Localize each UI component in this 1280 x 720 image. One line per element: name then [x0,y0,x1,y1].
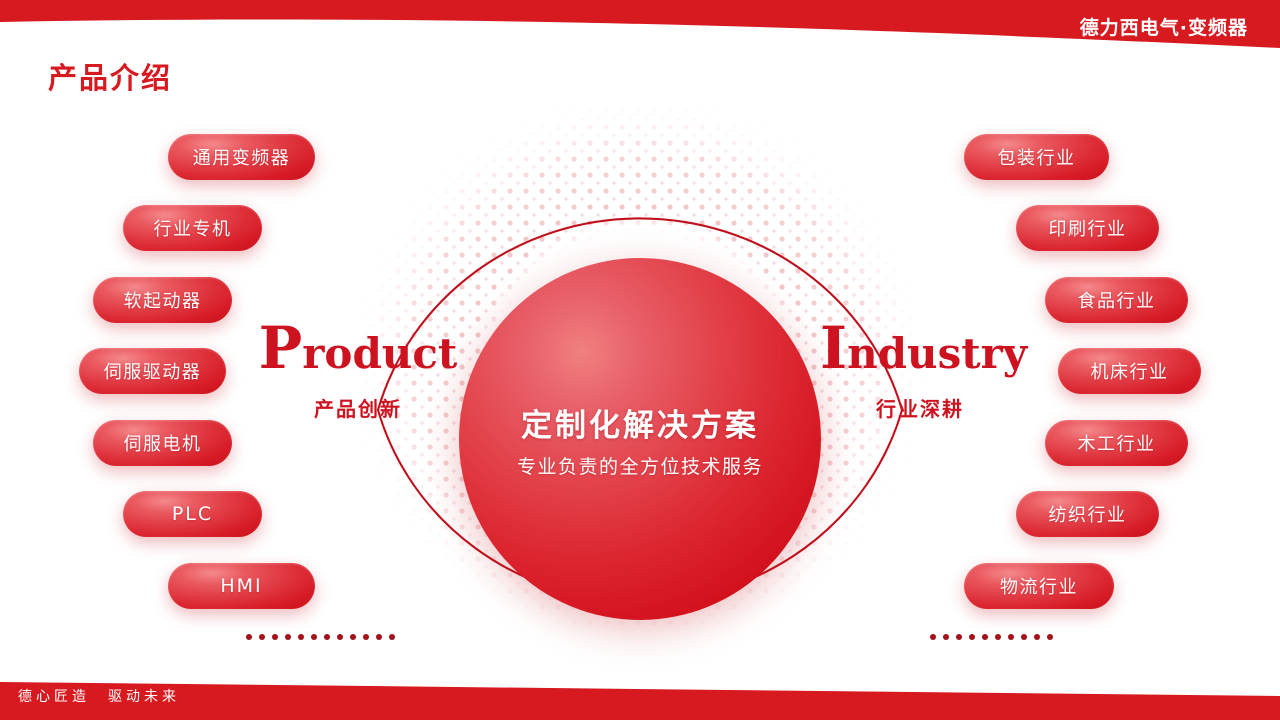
center-subtitle: 专业负责的全方位技术服务 [517,452,763,479]
divider-dot [1021,634,1027,640]
industry-pill-5[interactable]: 纺织行业 [1016,491,1159,537]
product-pill-0[interactable]: 通用变频器 [168,134,315,180]
industry-pill-label: 机床行业 [1091,358,1169,384]
product-pill-3[interactable]: 伺服驱动器 [79,348,226,394]
divider-dot [956,634,962,640]
divider-dot [324,634,330,640]
footer-band [0,668,1280,720]
industry-pill-label: 物流行业 [1000,573,1078,599]
industry-pill-label: 印刷行业 [1049,215,1127,241]
divider-dot [259,634,265,640]
industry-pill-label: 包装行业 [998,144,1076,170]
divider-dot [246,634,252,640]
product-pill-5[interactable]: PLC [123,491,262,537]
product-heading-capital: P [259,314,303,382]
product-pill-label: 通用变频器 [193,144,291,170]
product-pill-label: HMI [220,575,262,597]
footer-slogan: 德心匠造 驱动未来 [18,686,180,706]
industry-heading-en: Industry [820,318,1020,379]
divider-dot [376,634,382,640]
industry-pill-1[interactable]: 印刷行业 [1016,205,1159,251]
product-pill-label: 行业专机 [154,215,232,241]
divider-dot [982,634,988,640]
center-sphere: 定制化解决方案 专业负责的全方位技术服务 [459,258,821,620]
industry-pill-6[interactable]: 物流行业 [964,563,1114,609]
product-pill-2[interactable]: 软起动器 [93,277,232,323]
industry-pill-label: 食品行业 [1078,287,1156,313]
center-title: 定制化解决方案 [521,400,759,445]
divider-dot [389,634,395,640]
divider-dot [363,634,369,640]
product-heading-en: Product [258,318,458,379]
page-title: 产品介绍 [48,55,172,97]
divider-dot [1034,634,1040,640]
industry-heading-rest: ndustry [847,329,1027,378]
divider-dot [1008,634,1014,640]
industry-pill-2[interactable]: 食品行业 [1045,277,1188,323]
divider-dot [350,634,356,640]
industry-heading-cn: 行业深耕 [820,393,1020,422]
divider-dot [930,634,936,640]
product-pill-6[interactable]: HMI [168,563,315,609]
brand-logo-text: 德力西电气·变频器 [1080,13,1248,40]
divider-dot [311,634,317,640]
industry-pill-0[interactable]: 包装行业 [964,134,1109,180]
industry-pill-label: 木工行业 [1078,430,1156,456]
industry-heading-group: Industry 行业深耕 [820,318,1020,422]
product-dotted-divider [246,634,395,640]
product-heading-group: Product 产品创新 [258,318,458,422]
industry-heading-capital: I [820,314,847,382]
product-pill-label: PLC [172,503,213,525]
product-pill-label: 伺服驱动器 [104,358,202,384]
industry-dotted-divider [930,634,1053,640]
divider-dot [943,634,949,640]
product-pill-label: 软起动器 [124,287,202,313]
divider-dot [298,634,304,640]
divider-dot [272,634,278,640]
product-pill-label: 伺服电机 [124,430,202,456]
divider-dot [995,634,1001,640]
divider-dot [969,634,975,640]
industry-pill-label: 纺织行业 [1049,501,1127,527]
divider-dot [337,634,343,640]
product-pill-1[interactable]: 行业专机 [123,205,262,251]
industry-pill-4[interactable]: 木工行业 [1045,420,1188,466]
product-heading-rest: roduct [302,329,457,378]
product-heading-cn: 产品创新 [258,393,458,422]
divider-dot [285,634,291,640]
divider-dot [1047,634,1053,640]
product-pill-4[interactable]: 伺服电机 [93,420,232,466]
industry-pill-3[interactable]: 机床行业 [1058,348,1201,394]
